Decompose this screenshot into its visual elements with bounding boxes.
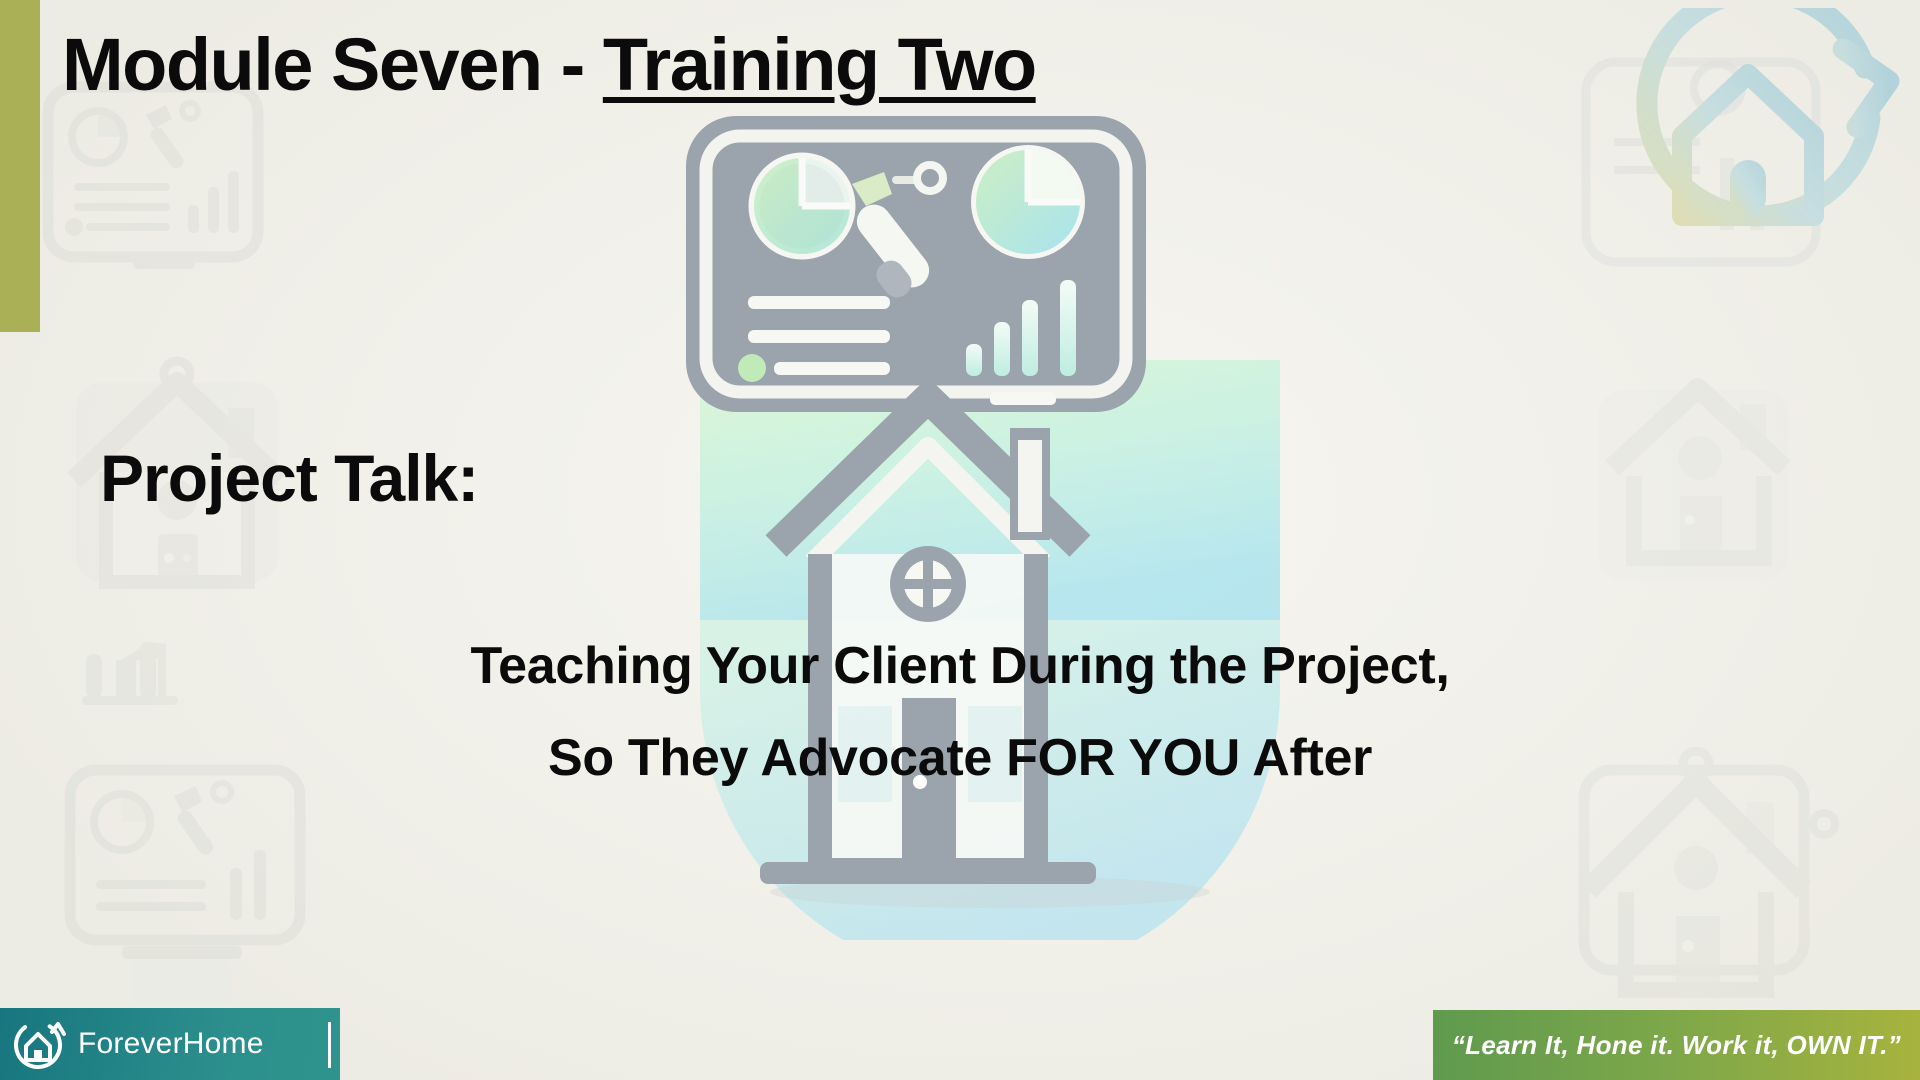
presentation-slide: Module Seven - Training Two Project Talk… — [0, 0, 1920, 1080]
tagline-text: “Learn It, Hone it. Work it, OWN IT.” — [1452, 1030, 1901, 1061]
house-watermark-right — [1572, 372, 1810, 610]
subtitle: Project Talk: — [100, 440, 478, 516]
brand-logo-bar: ForeverHome — [0, 1008, 340, 1080]
body-line-2: So They Advocate FOR YOU After — [0, 712, 1920, 804]
logo-divider — [328, 1022, 331, 1068]
brand-mark-watermark-top-right — [1570, 8, 1900, 288]
title-underlined: Training Two — [603, 23, 1036, 106]
accent-bar — [0, 0, 40, 332]
page-title: Module Seven - Training Two — [62, 22, 1036, 107]
body-line-1: Teaching Your Client During the Project, — [0, 620, 1920, 712]
hero-illustration — [680, 110, 1300, 940]
house-refresh-icon — [12, 1016, 68, 1072]
body-text: Teaching Your Client During the Project,… — [0, 620, 1920, 804]
brand-name: ForeverHome — [78, 1027, 264, 1061]
tagline-bar: “Learn It, Hone it. Work it, OWN IT.” — [1433, 1010, 1920, 1080]
title-plain: Module Seven - — [62, 23, 603, 106]
